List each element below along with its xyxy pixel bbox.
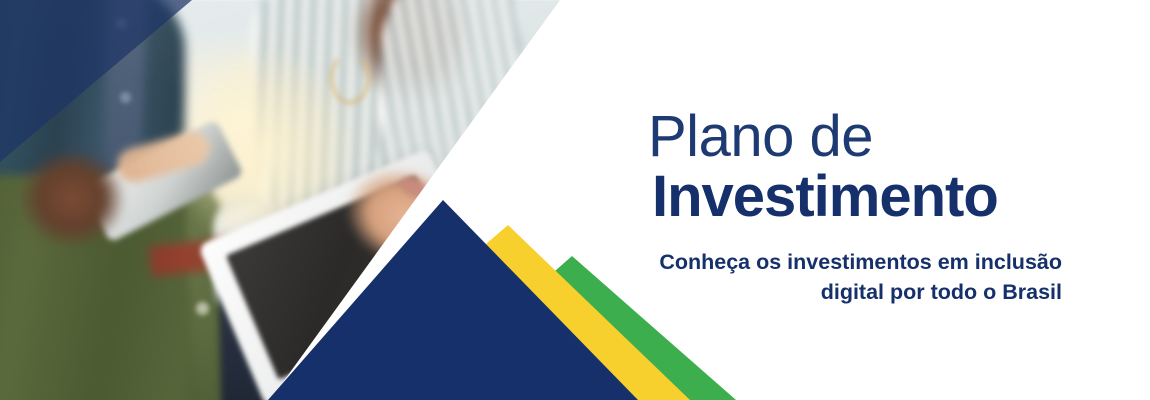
banner-subtitle-line1: Conheça os investimentos em inclusão — [659, 250, 1062, 274]
banner-subtitle-line2: digital por todo o Brasil — [821, 280, 1062, 304]
photo-shoe — [395, 300, 505, 354]
banner-text-block: Plano de Investimento Conheça os investi… — [600, 108, 1070, 308]
banner-photo — [0, 0, 570, 400]
page-title-line2: Investimento — [600, 166, 1070, 229]
banner-subtitle: Conheça os investimentos em inclusão dig… — [600, 247, 1070, 308]
investment-plan-banner: Plano de Investimento Conheça os investi… — [0, 0, 1150, 400]
page-title-line1: Plano de — [600, 108, 1070, 166]
